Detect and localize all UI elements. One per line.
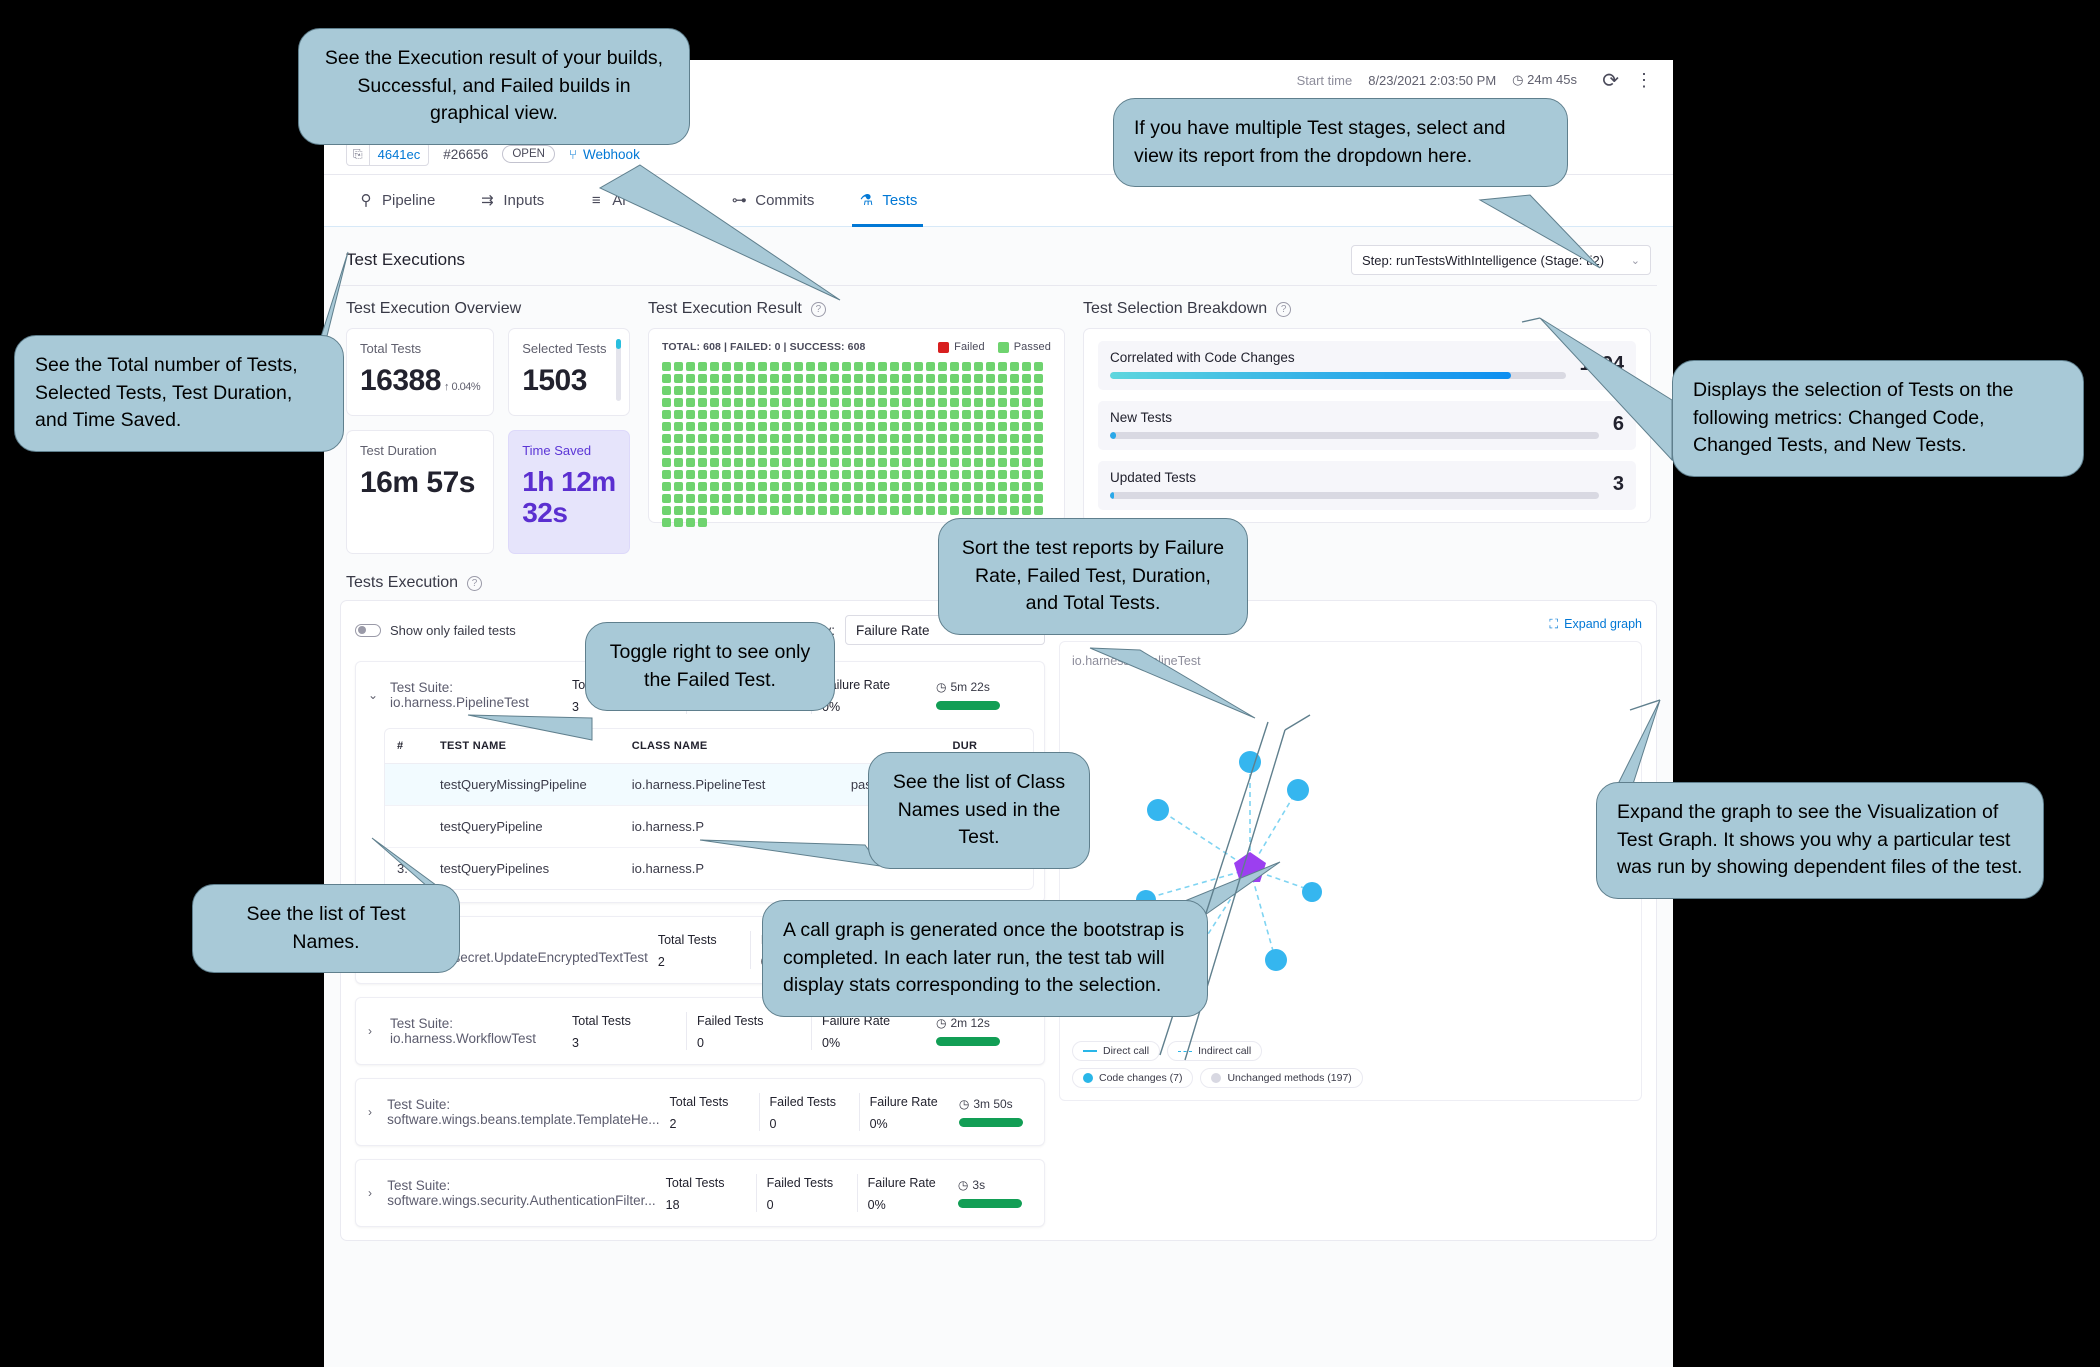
test-result-tile[interactable] xyxy=(662,422,671,431)
test-result-tile[interactable] xyxy=(770,470,779,479)
test-result-tile[interactable] xyxy=(782,458,791,467)
test-result-tile[interactable] xyxy=(950,362,959,371)
test-result-tile[interactable] xyxy=(674,482,683,491)
test-result-tile[interactable] xyxy=(770,434,779,443)
test-result-tile[interactable] xyxy=(794,494,803,503)
test-result-tile[interactable] xyxy=(974,362,983,371)
test-result-tile[interactable] xyxy=(854,446,863,455)
test-result-tile[interactable] xyxy=(806,494,815,503)
test-result-tile[interactable] xyxy=(1022,458,1031,467)
test-result-tile[interactable] xyxy=(974,386,983,395)
test-result-tile[interactable] xyxy=(818,434,827,443)
test-result-tile[interactable] xyxy=(926,362,935,371)
test-result-tile[interactable] xyxy=(902,374,911,383)
test-result-tile[interactable] xyxy=(770,446,779,455)
test-result-tile[interactable] xyxy=(674,362,683,371)
test-result-tile[interactable] xyxy=(782,434,791,443)
test-result-tile[interactable] xyxy=(914,362,923,371)
test-result-tile[interactable] xyxy=(1022,470,1031,479)
test-result-tile[interactable] xyxy=(1022,410,1031,419)
test-result-tile[interactable] xyxy=(818,470,827,479)
test-result-tile[interactable] xyxy=(986,386,995,395)
refresh-icon[interactable]: ⟳ xyxy=(1602,68,1619,93)
test-result-tile[interactable] xyxy=(830,362,839,371)
test-result-tile[interactable] xyxy=(902,410,911,419)
test-result-tile[interactable] xyxy=(758,446,767,455)
test-result-tile[interactable] xyxy=(698,482,707,491)
test-result-tile[interactable] xyxy=(806,362,815,371)
test-result-tile[interactable] xyxy=(938,362,947,371)
test-result-tile[interactable] xyxy=(914,398,923,407)
test-result-tile[interactable] xyxy=(794,362,803,371)
test-result-tile[interactable] xyxy=(986,410,995,419)
test-result-tile[interactable] xyxy=(674,506,683,515)
test-result-tile[interactable] xyxy=(854,398,863,407)
test-result-tile[interactable] xyxy=(1022,362,1031,371)
test-result-tile[interactable] xyxy=(806,458,815,467)
test-result-tile[interactable] xyxy=(698,398,707,407)
test-result-tile[interactable] xyxy=(686,434,695,443)
test-result-tile[interactable] xyxy=(938,434,947,443)
test-result-tile[interactable] xyxy=(686,398,695,407)
test-result-tile[interactable] xyxy=(938,410,947,419)
test-result-tile[interactable] xyxy=(806,446,815,455)
test-result-tile[interactable] xyxy=(770,386,779,395)
test-result-tile[interactable] xyxy=(1010,470,1019,479)
test-result-tile[interactable] xyxy=(854,434,863,443)
test-result-tile[interactable] xyxy=(830,494,839,503)
test-result-tile[interactable] xyxy=(746,410,755,419)
test-result-tile[interactable] xyxy=(842,470,851,479)
test-result-tile[interactable] xyxy=(1034,410,1043,419)
test-result-tile[interactable] xyxy=(770,458,779,467)
test-result-tiles[interactable] xyxy=(662,362,1051,527)
test-result-tile[interactable] xyxy=(998,386,1007,395)
test-result-tile[interactable] xyxy=(890,362,899,371)
test-result-tile[interactable] xyxy=(686,422,695,431)
test-result-tile[interactable] xyxy=(782,398,791,407)
test-result-tile[interactable] xyxy=(842,374,851,383)
test-result-tile[interactable] xyxy=(818,386,827,395)
test-result-tile[interactable] xyxy=(866,362,875,371)
test-result-tile[interactable] xyxy=(878,398,887,407)
test-result-tile[interactable] xyxy=(830,386,839,395)
test-result-tile[interactable] xyxy=(674,518,683,527)
test-result-tile[interactable] xyxy=(686,506,695,515)
test-result-tile[interactable] xyxy=(662,482,671,491)
test-result-tile[interactable] xyxy=(890,494,899,503)
test-result-tile[interactable] xyxy=(878,482,887,491)
test-result-tile[interactable] xyxy=(962,458,971,467)
test-result-tile[interactable] xyxy=(866,386,875,395)
test-result-tile[interactable] xyxy=(794,458,803,467)
test-result-tile[interactable] xyxy=(854,482,863,491)
test-result-tile[interactable] xyxy=(926,494,935,503)
test-result-tile[interactable] xyxy=(854,410,863,419)
test-result-tile[interactable] xyxy=(818,482,827,491)
test-result-tile[interactable] xyxy=(986,470,995,479)
test-result-tile[interactable] xyxy=(1022,386,1031,395)
pr-number[interactable]: #26656 xyxy=(443,147,488,162)
test-result-tile[interactable] xyxy=(674,470,683,479)
test-result-tile[interactable] xyxy=(830,470,839,479)
test-result-tile[interactable] xyxy=(866,494,875,503)
test-result-tile[interactable] xyxy=(866,374,875,383)
more-vertical-icon[interactable]: ⋮ xyxy=(1635,70,1653,91)
test-result-tile[interactable] xyxy=(794,470,803,479)
test-result-tile[interactable] xyxy=(710,494,719,503)
test-result-tile[interactable] xyxy=(1034,506,1043,515)
test-result-tile[interactable] xyxy=(734,374,743,383)
test-result-tile[interactable] xyxy=(794,434,803,443)
test-result-tile[interactable] xyxy=(914,410,923,419)
test-result-tile[interactable] xyxy=(710,458,719,467)
test-result-tile[interactable] xyxy=(782,494,791,503)
test-result-tile[interactable] xyxy=(686,494,695,503)
test-result-tile[interactable] xyxy=(818,458,827,467)
test-result-tile[interactable] xyxy=(734,434,743,443)
test-result-tile[interactable] xyxy=(974,374,983,383)
test-result-tile[interactable] xyxy=(722,470,731,479)
test-result-tile[interactable] xyxy=(674,434,683,443)
test-result-tile[interactable] xyxy=(734,494,743,503)
test-result-tile[interactable] xyxy=(854,374,863,383)
test-result-tile[interactable] xyxy=(722,494,731,503)
test-result-tile[interactable] xyxy=(998,506,1007,515)
test-result-tile[interactable] xyxy=(974,434,983,443)
test-result-tile[interactable] xyxy=(758,386,767,395)
test-result-tile[interactable] xyxy=(1022,494,1031,503)
test-result-tile[interactable] xyxy=(1034,434,1043,443)
test-result-tile[interactable] xyxy=(998,374,1007,383)
test-result-tile[interactable] xyxy=(830,482,839,491)
tab-pipeline[interactable]: ⚲ Pipeline xyxy=(358,175,435,227)
tab-commits[interactable]: ⊶ Commits xyxy=(731,175,814,227)
test-result-tile[interactable] xyxy=(854,422,863,431)
test-result-tile[interactable] xyxy=(866,446,875,455)
test-result-tile[interactable] xyxy=(938,446,947,455)
test-result-tile[interactable] xyxy=(770,422,779,431)
test-result-tile[interactable] xyxy=(806,386,815,395)
test-result-tile[interactable] xyxy=(926,482,935,491)
test-result-tile[interactable] xyxy=(902,446,911,455)
test-result-tile[interactable] xyxy=(890,458,899,467)
test-result-tile[interactable] xyxy=(734,422,743,431)
test-result-tile[interactable] xyxy=(914,446,923,455)
test-result-tile[interactable] xyxy=(746,482,755,491)
test-result-tile[interactable] xyxy=(962,446,971,455)
help-icon[interactable]: ? xyxy=(467,576,482,591)
test-result-tile[interactable] xyxy=(674,410,683,419)
test-result-tile[interactable] xyxy=(1034,494,1043,503)
test-result-tile[interactable] xyxy=(722,458,731,467)
test-result-tile[interactable] xyxy=(758,434,767,443)
test-result-tile[interactable] xyxy=(662,362,671,371)
test-result-tile[interactable] xyxy=(710,470,719,479)
tab-artifacts[interactable]: ≡ Ar xyxy=(588,175,627,227)
test-result-tile[interactable] xyxy=(950,470,959,479)
test-result-tile[interactable] xyxy=(1022,446,1031,455)
test-result-tile[interactable] xyxy=(866,482,875,491)
test-result-tile[interactable] xyxy=(842,506,851,515)
test-result-tile[interactable] xyxy=(782,470,791,479)
test-result-tile[interactable] xyxy=(926,446,935,455)
test-result-tile[interactable] xyxy=(1034,458,1043,467)
test-result-tile[interactable] xyxy=(794,410,803,419)
test-result-tile[interactable] xyxy=(746,386,755,395)
test-result-tile[interactable] xyxy=(662,398,671,407)
test-result-tile[interactable] xyxy=(926,422,935,431)
chevron-right-icon[interactable]: › xyxy=(368,1186,377,1200)
test-result-tile[interactable] xyxy=(662,494,671,503)
test-result-tile[interactable] xyxy=(950,422,959,431)
test-result-tile[interactable] xyxy=(722,482,731,491)
test-result-tile[interactable] xyxy=(890,482,899,491)
test-result-tile[interactable] xyxy=(1034,398,1043,407)
test-result-tile[interactable] xyxy=(794,482,803,491)
test-result-tile[interactable] xyxy=(926,374,935,383)
test-result-tile[interactable] xyxy=(842,458,851,467)
test-result-tile[interactable] xyxy=(1034,482,1043,491)
test-result-tile[interactable] xyxy=(926,470,935,479)
test-result-tile[interactable] xyxy=(986,458,995,467)
test-result-tile[interactable] xyxy=(962,434,971,443)
test-result-tile[interactable] xyxy=(866,506,875,515)
test-result-tile[interactable] xyxy=(950,482,959,491)
test-result-tile[interactable] xyxy=(866,458,875,467)
test-result-tile[interactable] xyxy=(710,410,719,419)
test-result-tile[interactable] xyxy=(974,398,983,407)
test-result-tile[interactable] xyxy=(878,386,887,395)
test-result-tile[interactable] xyxy=(662,374,671,383)
test-result-tile[interactable] xyxy=(782,410,791,419)
test-result-tile[interactable] xyxy=(674,398,683,407)
test-result-tile[interactable] xyxy=(890,470,899,479)
test-result-tile[interactable] xyxy=(842,386,851,395)
test-result-tile[interactable] xyxy=(878,362,887,371)
test-result-tile[interactable] xyxy=(854,470,863,479)
test-result-tile[interactable] xyxy=(986,434,995,443)
test-result-tile[interactable] xyxy=(758,482,767,491)
test-result-tile[interactable] xyxy=(938,482,947,491)
test-result-tile[interactable] xyxy=(878,494,887,503)
test-result-tile[interactable] xyxy=(938,494,947,503)
test-result-tile[interactable] xyxy=(818,362,827,371)
test-result-tile[interactable] xyxy=(686,410,695,419)
test-result-tile[interactable] xyxy=(1010,446,1019,455)
test-result-tile[interactable] xyxy=(866,398,875,407)
test-result-tile[interactable] xyxy=(950,458,959,467)
test-result-tile[interactable] xyxy=(722,410,731,419)
test-result-tile[interactable] xyxy=(674,422,683,431)
test-result-tile[interactable] xyxy=(902,398,911,407)
test-result-tile[interactable] xyxy=(722,374,731,383)
test-result-tile[interactable] xyxy=(770,374,779,383)
test-result-tile[interactable] xyxy=(746,494,755,503)
test-result-tile[interactable] xyxy=(782,422,791,431)
test-result-tile[interactable] xyxy=(830,506,839,515)
test-result-tile[interactable] xyxy=(794,398,803,407)
test-result-tile[interactable] xyxy=(830,398,839,407)
test-result-tile[interactable] xyxy=(962,374,971,383)
test-result-tile[interactable] xyxy=(818,422,827,431)
test-result-tile[interactable] xyxy=(698,470,707,479)
test-result-tile[interactable] xyxy=(734,506,743,515)
failed-only-toggle-wrap[interactable]: Show only failed tests xyxy=(355,623,516,638)
help-icon[interactable]: ? xyxy=(1276,302,1291,317)
test-suite-row[interactable]: › Test Suite: software.wings.beans.templ… xyxy=(356,1079,1044,1145)
test-result-tile[interactable] xyxy=(698,506,707,515)
test-result-tile[interactable] xyxy=(686,374,695,383)
test-result-tile[interactable] xyxy=(974,470,983,479)
test-result-tile[interactable] xyxy=(1034,362,1043,371)
test-result-tile[interactable] xyxy=(710,446,719,455)
test-result-tile[interactable] xyxy=(842,494,851,503)
test-result-tile[interactable] xyxy=(890,506,899,515)
test-result-tile[interactable] xyxy=(914,434,923,443)
test-result-tile[interactable] xyxy=(1010,458,1019,467)
test-result-tile[interactable] xyxy=(746,362,755,371)
test-result-tile[interactable] xyxy=(710,374,719,383)
test-result-tile[interactable] xyxy=(662,386,671,395)
test-result-tile[interactable] xyxy=(686,470,695,479)
test-result-tile[interactable] xyxy=(782,374,791,383)
test-result-tile[interactable] xyxy=(890,374,899,383)
test-result-tile[interactable] xyxy=(1034,374,1043,383)
test-result-tile[interactable] xyxy=(674,374,683,383)
test-result-tile[interactable] xyxy=(1010,482,1019,491)
test-result-tile[interactable] xyxy=(950,494,959,503)
test-result-tile[interactable] xyxy=(866,422,875,431)
test-result-tile[interactable] xyxy=(818,446,827,455)
test-result-tile[interactable] xyxy=(902,434,911,443)
tab-inputs[interactable]: ⇉ Inputs xyxy=(479,175,544,227)
test-result-tile[interactable] xyxy=(758,458,767,467)
test-result-tile[interactable] xyxy=(1010,422,1019,431)
test-result-tile[interactable] xyxy=(758,410,767,419)
test-result-tile[interactable] xyxy=(818,494,827,503)
test-result-tile[interactable] xyxy=(674,446,683,455)
test-result-tile[interactable] xyxy=(998,434,1007,443)
test-result-tile[interactable] xyxy=(914,458,923,467)
test-result-tile[interactable] xyxy=(782,386,791,395)
test-result-tile[interactable] xyxy=(878,422,887,431)
test-result-tile[interactable] xyxy=(842,410,851,419)
test-result-tile[interactable] xyxy=(1022,422,1031,431)
test-result-tile[interactable] xyxy=(998,446,1007,455)
test-result-tile[interactable] xyxy=(1010,494,1019,503)
test-result-tile[interactable] xyxy=(770,506,779,515)
test-result-tile[interactable] xyxy=(950,446,959,455)
test-result-tile[interactable] xyxy=(734,386,743,395)
test-result-tile[interactable] xyxy=(674,458,683,467)
test-result-tile[interactable] xyxy=(842,362,851,371)
test-result-tile[interactable] xyxy=(902,506,911,515)
step-select[interactable]: Step: runTestsWithIntelligence (Stage: t… xyxy=(1351,245,1651,275)
test-result-tile[interactable] xyxy=(986,398,995,407)
test-result-tile[interactable] xyxy=(962,506,971,515)
test-result-tile[interactable] xyxy=(806,434,815,443)
test-result-tile[interactable] xyxy=(1010,506,1019,515)
test-result-tile[interactable] xyxy=(914,374,923,383)
test-result-tile[interactable] xyxy=(830,374,839,383)
test-result-tile[interactable] xyxy=(710,434,719,443)
test-result-tile[interactable] xyxy=(794,506,803,515)
test-result-tile[interactable] xyxy=(746,506,755,515)
test-result-tile[interactable] xyxy=(1022,398,1031,407)
test-result-tile[interactable] xyxy=(878,410,887,419)
test-result-tile[interactable] xyxy=(986,494,995,503)
test-result-tile[interactable] xyxy=(710,482,719,491)
test-result-tile[interactable] xyxy=(926,398,935,407)
test-result-tile[interactable] xyxy=(1034,470,1043,479)
test-result-tile[interactable] xyxy=(758,374,767,383)
test-result-tile[interactable] xyxy=(770,362,779,371)
test-result-tile[interactable] xyxy=(770,398,779,407)
chevron-right-icon[interactable]: › xyxy=(368,1024,380,1038)
test-result-tile[interactable] xyxy=(746,374,755,383)
test-result-tile[interactable] xyxy=(950,434,959,443)
test-result-tile[interactable] xyxy=(974,494,983,503)
chevron-down-icon[interactable]: ⌄ xyxy=(368,688,380,702)
test-result-tile[interactable] xyxy=(1034,386,1043,395)
test-result-tile[interactable] xyxy=(854,494,863,503)
test-result-tile[interactable] xyxy=(818,410,827,419)
test-result-tile[interactable] xyxy=(926,506,935,515)
test-result-tile[interactable] xyxy=(998,422,1007,431)
test-result-tile[interactable] xyxy=(890,446,899,455)
test-result-tile[interactable] xyxy=(746,422,755,431)
test-result-tile[interactable] xyxy=(926,434,935,443)
test-result-tile[interactable] xyxy=(926,410,935,419)
test-result-tile[interactable] xyxy=(686,362,695,371)
test-result-tile[interactable] xyxy=(938,458,947,467)
test-result-tile[interactable] xyxy=(878,446,887,455)
test-result-tile[interactable] xyxy=(878,458,887,467)
test-result-tile[interactable] xyxy=(758,494,767,503)
test-result-tile[interactable] xyxy=(890,434,899,443)
call-graph-box[interactable]: io.harness.PipelineTest xyxy=(1059,641,1642,1101)
test-result-tile[interactable] xyxy=(734,362,743,371)
test-result-tile[interactable] xyxy=(794,446,803,455)
test-result-tile[interactable] xyxy=(806,398,815,407)
test-result-tile[interactable] xyxy=(974,482,983,491)
test-result-tile[interactable] xyxy=(878,434,887,443)
test-result-tile[interactable] xyxy=(938,422,947,431)
test-result-tile[interactable] xyxy=(806,506,815,515)
test-result-tile[interactable] xyxy=(758,398,767,407)
test-result-tile[interactable] xyxy=(734,482,743,491)
tab-tests[interactable]: ⚗ Tests xyxy=(858,175,917,227)
test-result-tile[interactable] xyxy=(938,398,947,407)
test-result-tile[interactable] xyxy=(710,398,719,407)
test-result-tile[interactable] xyxy=(734,470,743,479)
test-result-tile[interactable] xyxy=(878,470,887,479)
test-result-tile[interactable] xyxy=(782,362,791,371)
test-result-tile[interactable] xyxy=(806,422,815,431)
test-result-tile[interactable] xyxy=(962,398,971,407)
test-result-tile[interactable] xyxy=(842,482,851,491)
test-result-tile[interactable] xyxy=(818,398,827,407)
test-result-tile[interactable] xyxy=(902,386,911,395)
test-result-tile[interactable] xyxy=(830,458,839,467)
test-result-tile[interactable] xyxy=(902,494,911,503)
test-result-tile[interactable] xyxy=(962,362,971,371)
test-result-tile[interactable] xyxy=(854,386,863,395)
test-result-tile[interactable] xyxy=(698,458,707,467)
test-result-tile[interactable] xyxy=(698,422,707,431)
test-result-tile[interactable] xyxy=(746,470,755,479)
